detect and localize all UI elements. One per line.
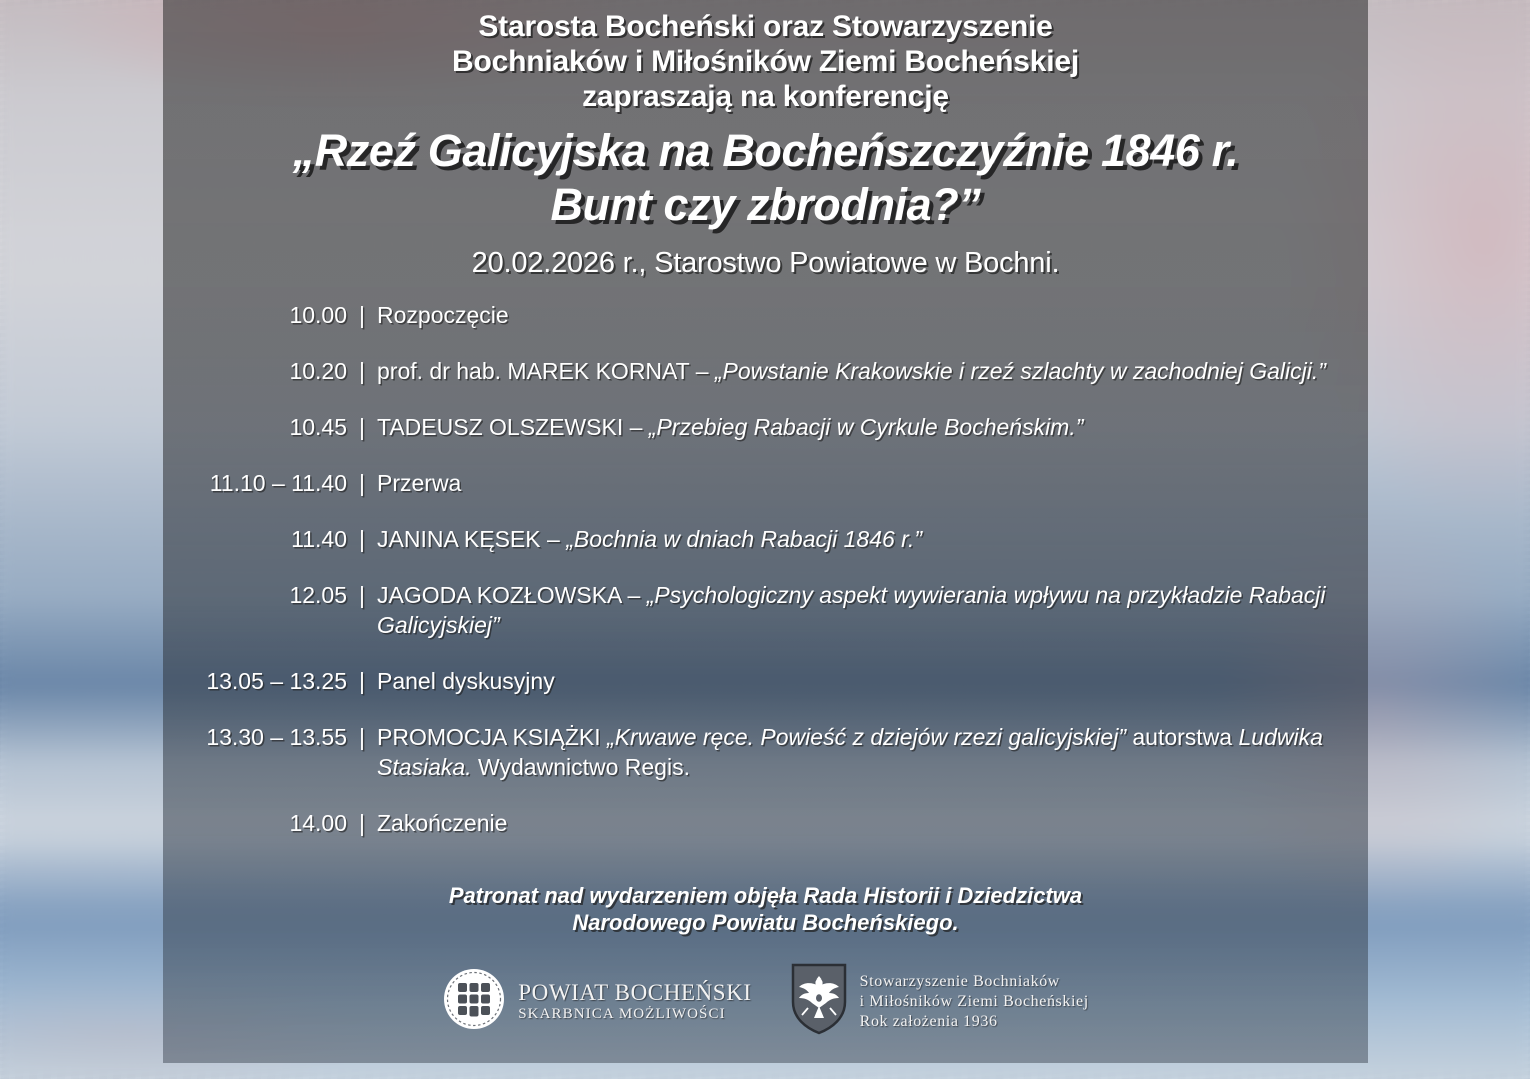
stowarzyszenie-line-3: Rok założenia 1936 (860, 1012, 1089, 1032)
title-line-2: Bunt czy zbrodnia?” (163, 178, 1368, 232)
schedule-text: Przerwa (377, 470, 461, 496)
schedule-text: Wydawnictwo Regis. (472, 754, 690, 780)
schedule-separator: | (347, 808, 377, 838)
schedule-time: 12.05 (163, 580, 347, 610)
organizer-line-2: Bochniaków i Miłośników Ziemi Bocheńskie… (163, 44, 1368, 79)
schedule-list: 10.00|Rozpoczęcie10.20|prof. dr hab. MAR… (163, 300, 1368, 838)
patronage-line-1: Patronat nad wydarzeniem objęła Rada His… (163, 882, 1368, 909)
schedule-text: JANINA KĘSEK – (377, 526, 566, 552)
schedule-row: 10.20|prof. dr hab. MAREK KORNAT – „Pows… (163, 356, 1368, 386)
schedule-time: 14.00 (163, 808, 347, 838)
schedule-separator: | (347, 580, 377, 610)
schedule-time: 10.45 (163, 412, 347, 442)
schedule-time: 10.00 (163, 300, 347, 330)
schedule-description: JAGODA KOZŁOWSKA – „Psychologiczny aspek… (377, 580, 1368, 640)
schedule-time: 10.20 (163, 356, 347, 386)
powiat-logo-text: POWIAT BOCHEŃSKI SKARBNICA MOŻLIWOŚCI (518, 980, 751, 1023)
schedule-separator: | (347, 300, 377, 330)
schedule-text: prof. dr hab. MAREK KORNAT – (377, 358, 715, 384)
organizer-line-1: Starosta Bocheński oraz Stowarzyszenie (163, 9, 1368, 44)
schedule-time: 13.30 – 13.55 (163, 722, 347, 752)
schedule-title-italic: „Powstanie Krakowskie i rzeź szlachty w … (715, 358, 1326, 384)
logo-powiat-bochenski: POWIAT BOCHEŃSKI SKARBNICA MOŻLIWOŚCI (442, 967, 751, 1036)
logo-stowarzyszenie-bochniakow: Stowarzyszenie Bochniaków i Miłośników Z… (790, 962, 1089, 1041)
schedule-text: autorstwa (1126, 724, 1239, 750)
schedule-time: 11.10 – 11.40 (163, 468, 347, 498)
schedule-description: Panel dyskusyjny (377, 666, 1368, 696)
schedule-text: Panel dyskusyjny (377, 668, 555, 694)
salt-seal-icon (442, 967, 506, 1036)
schedule-separator: | (347, 524, 377, 554)
page-title: „Rzeź Galicyjska na Bocheńszczyźnie 1846… (163, 124, 1368, 232)
stowarzyszenie-line-2: i Miłośników Ziemi Bocheńskiej (860, 992, 1089, 1012)
organizer-line-3: zapraszają na konferencję (163, 79, 1368, 114)
powiat-name: POWIAT BOCHEŃSKI (518, 980, 751, 1006)
title-line-1: „Rzeź Galicyjska na Bocheńszczyźnie 1846… (163, 124, 1368, 178)
schedule-row: 13.05 – 13.25|Panel dyskusyjny (163, 666, 1368, 696)
schedule-separator: | (347, 666, 377, 696)
schedule-text: Zakończenie (377, 810, 507, 836)
conference-poster: Starosta Bocheński oraz Stowarzyszenie B… (0, 0, 1530, 1079)
organizer-header: Starosta Bocheński oraz Stowarzyszenie B… (163, 0, 1368, 114)
schedule-title-italic: „Krwawe ręce. Powieść z dziejów rzezi ga… (607, 724, 1126, 750)
schedule-description: prof. dr hab. MAREK KORNAT – „Powstanie … (377, 356, 1368, 386)
schedule-time: 13.05 – 13.25 (163, 666, 347, 696)
powiat-tagline: SKARBNICA MOŻLIWOŚCI (518, 1006, 751, 1023)
logo-row: POWIAT BOCHEŃSKI SKARBNICA MOŻLIWOŚCI (163, 962, 1368, 1041)
schedule-description: Zakończenie (377, 808, 1368, 838)
stowarzyszenie-logo-text: Stowarzyszenie Bochniaków i Miłośników Z… (860, 972, 1089, 1032)
schedule-description: TADEUSZ OLSZEWSKI – „Przebieg Rabacji w … (377, 412, 1368, 442)
schedule-row: 14.00|Zakończenie (163, 808, 1368, 838)
schedule-separator: | (347, 468, 377, 498)
schedule-description: PROMOCJA KSIĄŻKI „Krwawe ręce. Powieść z… (377, 722, 1368, 782)
schedule-separator: | (347, 722, 377, 752)
schedule-separator: | (347, 356, 377, 386)
schedule-text: PROMOCJA KSIĄŻKI (377, 724, 607, 750)
schedule-text: Rozpoczęcie (377, 302, 509, 328)
schedule-title-italic: „Bochnia w dniach Rabacji 1846 r.” (566, 526, 922, 552)
schedule-text: JAGODA KOZŁOWSKA – (377, 582, 647, 608)
schedule-description: Rozpoczęcie (377, 300, 1368, 330)
schedule-row: 12.05|JAGODA KOZŁOWSKA – „Psychologiczny… (163, 580, 1368, 640)
patronage-note: Patronat nad wydarzeniem objęła Rada His… (163, 882, 1368, 936)
poster-content: Starosta Bocheński oraz Stowarzyszenie B… (163, 0, 1368, 1079)
schedule-description: JANINA KĘSEK – „Bochnia w dniach Rabacji… (377, 524, 1368, 554)
eagle-shield-icon (790, 962, 848, 1041)
schedule-title-italic: „Przebieg Rabacji w Cyrkule Bocheńskim.” (649, 414, 1084, 440)
schedule-text: TADEUSZ OLSZEWSKI – (377, 414, 649, 440)
schedule-description: Przerwa (377, 468, 1368, 498)
patronage-line-2: Narodowego Powiatu Bocheńskiego. (163, 909, 1368, 936)
schedule-separator: | (347, 412, 377, 442)
schedule-row: 11.10 – 11.40|Przerwa (163, 468, 1368, 498)
schedule-row: 13.30 – 13.55|PROMOCJA KSIĄŻKI „Krwawe r… (163, 722, 1368, 782)
schedule-row: 10.45|TADEUSZ OLSZEWSKI – „Przebieg Raba… (163, 412, 1368, 442)
schedule-time: 11.40 (163, 524, 347, 554)
date-venue-line: 20.02.2026 r., Starostwo Powiatowe w Boc… (163, 246, 1368, 280)
schedule-row: 10.00|Rozpoczęcie (163, 300, 1368, 330)
stowarzyszenie-line-1: Stowarzyszenie Bochniaków (860, 972, 1089, 992)
schedule-row: 11.40|JANINA KĘSEK – „Bochnia w dniach R… (163, 524, 1368, 554)
